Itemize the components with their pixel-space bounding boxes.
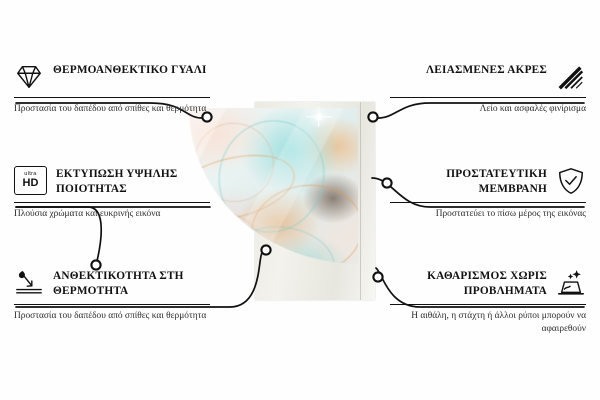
feature-description: Πλούσια χρώματα και ευκρινής εικόνα bbox=[14, 208, 210, 222]
feature-title: ΚΑΘΑΡΙΣΜΟΣ ΧΩΡΙΣ ΠΡΟΒΛΗΜΑΤΑ bbox=[390, 268, 547, 299]
feature-protective-membrane[interactable]: ΠΡΟΣΤΑΤΕΥΤΙΚΗ ΜΕΜΒΡΑΝΗ Προστατεύει το πί… bbox=[390, 166, 586, 221]
ultra-hd-icon: ultra HD bbox=[14, 166, 47, 195]
shield-check-icon bbox=[556, 166, 586, 196]
feature-heat-resistant-glass[interactable]: ΘΕΡΜΟΑΝΘΕΚΤΙΚΟ ΓΥΑΛΙ Προστασία του δαπέδ… bbox=[14, 62, 210, 117]
feature-description: Προστασία του δαπέδου από σπίθες και θερ… bbox=[14, 310, 210, 324]
feature-polished-edges[interactable]: ΛΕΙΑΣΜΕΝΕΣ ΑΚΡΕΣ Λείο και ασφαλές φινίρι… bbox=[390, 62, 586, 117]
feature-high-quality-print[interactable]: ultra HD ΕΚΤΥΠΩΣΗ ΥΨΗΛΗΣ ΠΟΙΟΤΗΤΑΣ Πλούσ… bbox=[14, 166, 210, 221]
feature-title: ΠΡΟΣΤΑΤΕΥΤΙΚΗ ΜΕΜΒΡΑΝΗ bbox=[390, 166, 547, 197]
feature-title: ΘΕΡΜΟΑΝΘΕΚΤΙΚΟ ΓΥΑΛΙ bbox=[53, 62, 207, 78]
divider bbox=[14, 304, 210, 305]
sponge-sparkle-icon bbox=[556, 268, 586, 298]
feature-description: Προστασία του δαπέδου από σπίθες και θερ… bbox=[14, 103, 210, 117]
feature-description: Λείο και ασφαλές φινίρισμα bbox=[390, 103, 586, 117]
feature-title: ΑΝΘΕΚΤΙΚΟΤΗΤΑ ΣΤΗ ΘΕΡΜΟΤΗΤΑ bbox=[53, 268, 210, 299]
divider bbox=[390, 304, 586, 305]
divider bbox=[390, 202, 586, 203]
product-image bbox=[180, 100, 400, 315]
divider bbox=[390, 97, 586, 98]
divider bbox=[14, 202, 210, 203]
flame-deflect-icon bbox=[14, 268, 44, 298]
diamond-icon bbox=[14, 62, 44, 92]
infographic-canvas: ΘΕΡΜΟΑΝΘΕΚΤΙΚΟ ΓΥΑΛΙ Προστασία του δαπέδ… bbox=[0, 0, 600, 400]
feature-title: ΕΚΤΥΠΩΣΗ ΥΨΗΛΗΣ ΠΟΙΟΤΗΤΑΣ bbox=[56, 166, 210, 197]
feature-heat-durability[interactable]: ΑΝΘΕΚΤΙΚΟΤΗΤΑ ΣΤΗ ΘΕΡΜΟΤΗΤΑ Προστασία το… bbox=[14, 268, 210, 323]
divider bbox=[14, 97, 210, 98]
feature-easy-cleaning[interactable]: ΚΑΘΑΡΙΣΜΟΣ ΧΩΡΙΣ ΠΡΟΒΛΗΜΑΤΑ Η αιθάλη, η … bbox=[390, 268, 586, 337]
feature-description: Προστατεύει το πίσω μέρος της εικόνας bbox=[390, 208, 586, 222]
feature-title: ΛΕΙΑΣΜΕΝΕΣ ΑΚΡΕΣ bbox=[426, 62, 547, 78]
ultra-hd-icon-bottom-text: HD bbox=[23, 178, 39, 189]
diagonal-stripes-icon bbox=[556, 62, 586, 92]
feature-description: Η αιθάλη, η στάχτη ή άλλοι ρύποι μπορούν… bbox=[390, 310, 586, 337]
